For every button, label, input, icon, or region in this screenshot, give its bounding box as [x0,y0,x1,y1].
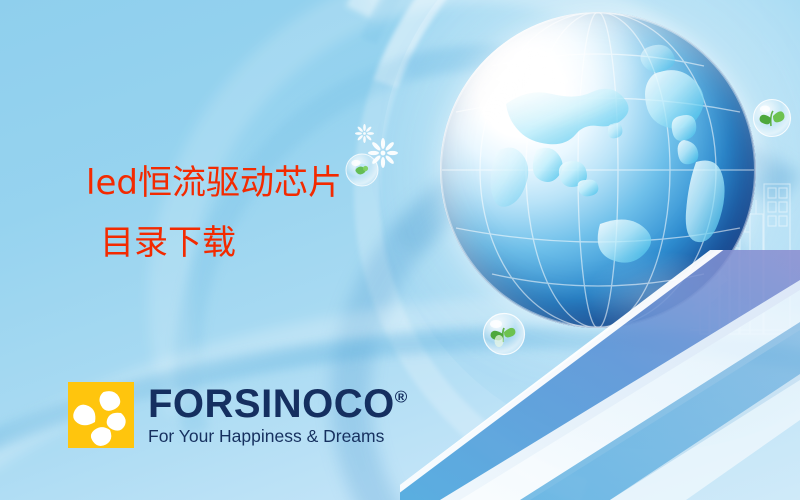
brand-logo[interactable]: FORSINOCO® For Your Happiness & Dreams [68,382,407,448]
registered-trademark-icon: ® [395,388,408,407]
four-petal-pinwheel-mark [68,382,134,448]
earth-globe [440,12,756,328]
logo-wordmark: FORSINOCO® [148,384,407,424]
headline-line-2: 目录下载 [100,226,342,260]
logo-brand-text: FORSINOCO [148,382,395,426]
flower-burst-small [355,124,374,143]
bubble-leaf-right [752,98,792,138]
headline: led恒流驱动芯片 目录下载 [86,166,342,260]
bubble-sprout [482,312,526,356]
promo-banner: led恒流驱动芯片 目录下载 FORSINOCO® For Your Happi… [0,0,800,500]
bubble-globe-small [345,153,379,187]
logo-tagline: For Your Happiness & Dreams [148,428,407,446]
headline-line-1: led恒流驱动芯片 [86,166,342,200]
